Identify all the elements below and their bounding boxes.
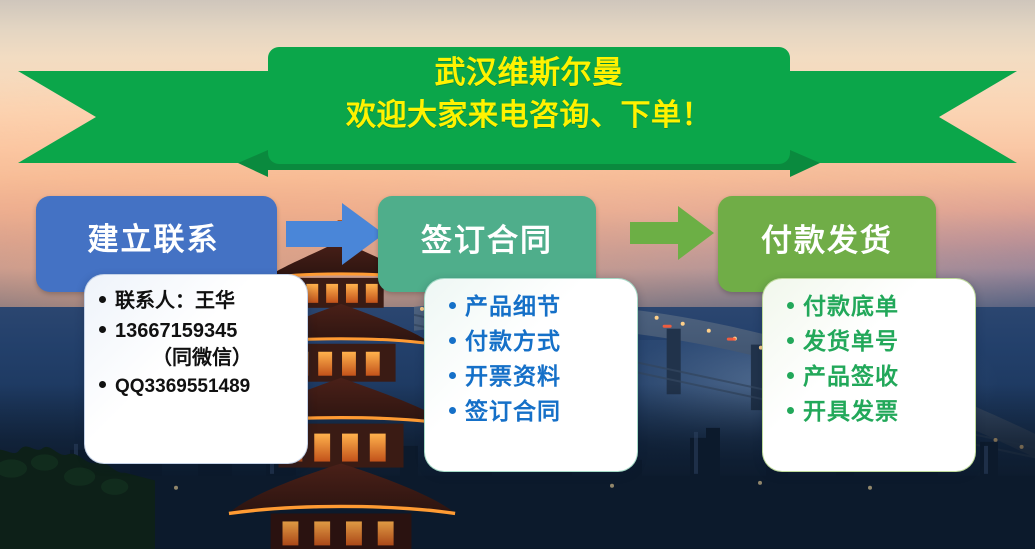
step-3-item-3: 开具发票	[803, 400, 899, 423]
step-2-list: 产品细节 付款方式 开票资料 签订合同	[449, 295, 627, 423]
bullet-dot-icon	[449, 302, 456, 309]
bullet-dot-icon	[449, 372, 456, 379]
list-item: 发货单号	[787, 330, 965, 353]
list-item: 签订合同	[449, 400, 627, 423]
step-2-item-0: 产品细节	[465, 295, 561, 318]
step-1-item-0: 联系人：王华	[115, 289, 235, 315]
list-item: 开票资料	[449, 365, 627, 388]
arrow-right-green-icon	[630, 206, 714, 260]
step-3-title: 付款发货	[761, 215, 893, 274]
poster-canvas: 武汉维斯尔曼 欢迎大家来电咨询、下单！ 建立联系 联系人：王华 13667159…	[0, 0, 1035, 549]
step-1-list-2: QQ3369551489	[99, 375, 297, 399]
step-1-item-2: QQ3369551489	[115, 375, 250, 399]
step-2-item-2: 开票资料	[465, 365, 561, 388]
step-1-card: 联系人：王华 13667159345 （同微信） QQ3369551489	[84, 274, 308, 464]
step-3-item-2: 产品签收	[803, 365, 899, 388]
bullet-dot-icon	[787, 372, 794, 379]
step-1-title: 建立联系	[88, 214, 220, 275]
list-item: 付款底单	[787, 295, 965, 318]
step-3-item-0: 付款底单	[803, 295, 899, 318]
step-2-title: 签订合同	[421, 215, 553, 274]
bullet-dot-icon	[99, 381, 106, 388]
bullet-dot-icon	[787, 407, 794, 414]
step-3-item-1: 发货单号	[803, 330, 899, 353]
step-2-item-3: 签订合同	[465, 400, 561, 423]
bullet-dot-icon	[449, 337, 456, 344]
ribbon-banner	[0, 0, 1035, 190]
bullet-dot-icon	[787, 302, 794, 309]
step-1-sub-note: （同微信）	[99, 346, 297, 371]
list-item: 开具发票	[787, 400, 965, 423]
bullet-dot-icon	[449, 407, 456, 414]
step-2-item-1: 付款方式	[465, 330, 561, 353]
step-1-item-1: 13667159345	[115, 319, 237, 345]
bullet-dot-icon	[99, 326, 106, 333]
ribbon-left-tail	[18, 71, 300, 163]
bullet-dot-icon	[787, 337, 794, 344]
list-item: 产品细节	[449, 295, 627, 318]
list-item: 产品签收	[787, 365, 965, 388]
list-item: 13667159345	[99, 319, 297, 345]
step-3-list: 付款底单 发货单号 产品签收 开具发票	[787, 295, 965, 423]
list-item: 付款方式	[449, 330, 627, 353]
step-2-card: 产品细节 付款方式 开票资料 签订合同	[424, 278, 638, 472]
arrow-right-blue-icon	[286, 203, 384, 265]
ribbon-center-panel	[268, 47, 790, 164]
step-3-card: 付款底单 发货单号 产品签收 开具发票	[762, 278, 976, 472]
step-1-list: 联系人：王华 13667159345	[99, 289, 297, 344]
bullet-dot-icon	[99, 296, 106, 303]
list-item: QQ3369551489	[99, 375, 297, 399]
list-item: 联系人：王华	[99, 289, 297, 315]
